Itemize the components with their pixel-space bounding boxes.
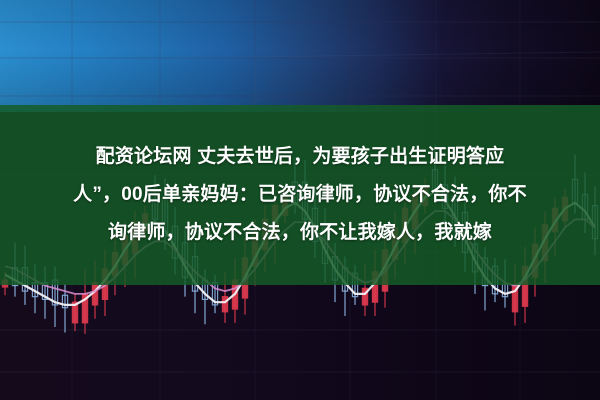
headline-line-1: 配资论坛网 丈夫去世后，为要孩子出生证明答应 [96, 138, 505, 176]
headline-line-2: 人”，00后单亲妈妈：已咨询律师，协议不合法，你不 [73, 176, 527, 214]
thumbnail-canvas: 配资论坛网 丈夫去世后，为要孩子出生证明答应 人”，00后单亲妈妈：已咨询律师，… [0, 0, 600, 400]
headline-line-3: 询律师，协议不合法，你不让我嫁人，我就嫁 [108, 214, 492, 252]
headline-text-block: 配资论坛网 丈夫去世后，为要孩子出生证明答应 人”，00后单亲妈妈：已咨询律师，… [0, 105, 600, 285]
